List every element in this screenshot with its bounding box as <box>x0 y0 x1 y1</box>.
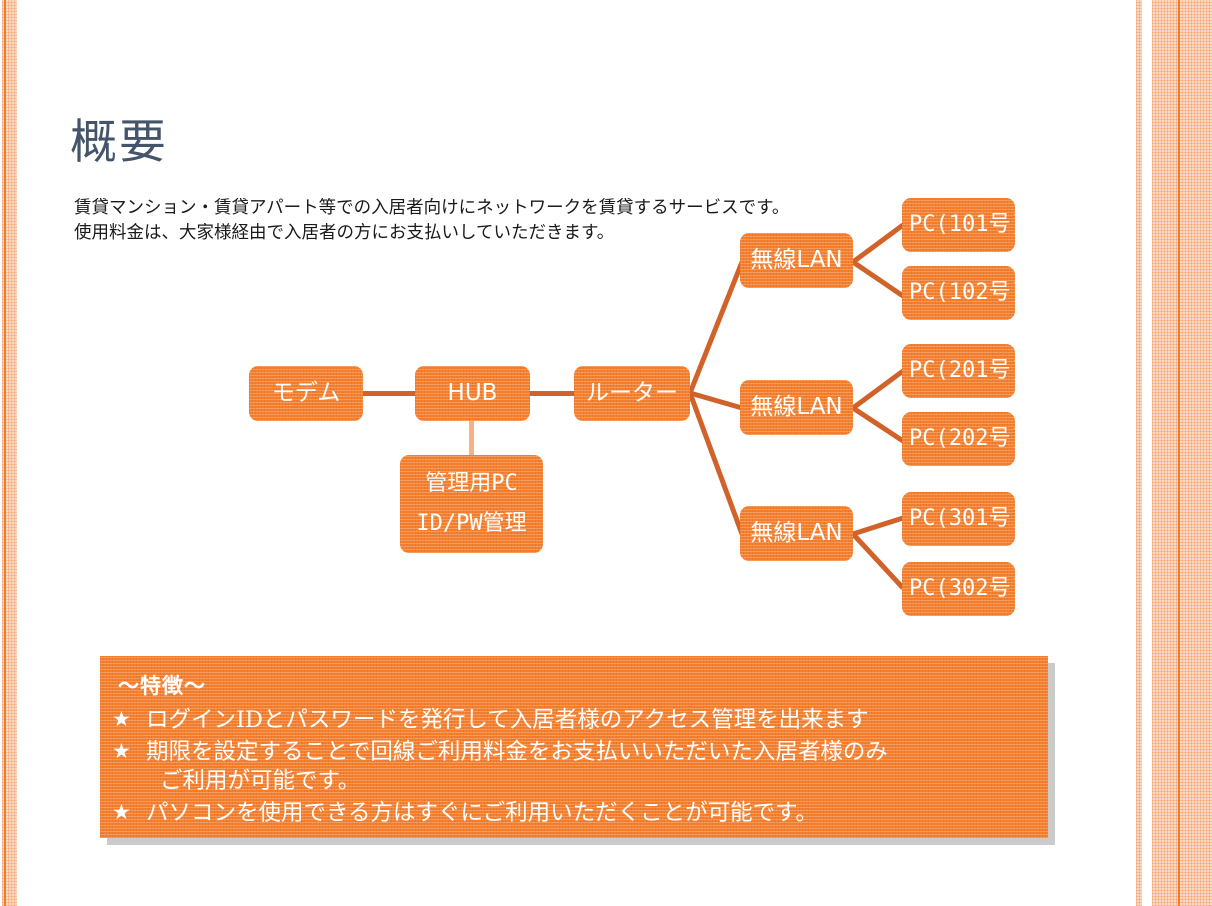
features-panel: 〜特徴〜 ★ ログインIDとパスワードを発行して入居者様のアクセス管理を出来ます… <box>100 656 1048 838</box>
node-pc-102[interactable]: PC(102号) <box>902 266 1015 320</box>
node-wireless-lan-2[interactable]: 無線LAN <box>740 380 853 435</box>
right-border-thin-strip <box>1136 0 1142 906</box>
pc-201-label: PC(201号) <box>909 358 1024 384</box>
node-pc-101[interactable]: PC(101号) <box>902 198 1015 252</box>
wireless-lan-2-label: 無線LAN <box>750 394 842 421</box>
link-modem-hub <box>363 391 417 396</box>
node-modem[interactable]: モデム <box>249 366 363 421</box>
management-pc-line-1: 管理用PC <box>425 471 518 497</box>
feature-text-continued: ご利用が可能です。 <box>146 767 1048 797</box>
node-pc-202[interactable]: PC(202号) <box>902 412 1015 466</box>
node-router-label: ルーター <box>586 380 678 407</box>
intro-line-2: 使用料金は、大家様経由で入居者の方にお支払いしていただきます。 <box>74 221 789 246</box>
node-wireless-lan-1[interactable]: 無線LAN <box>740 233 853 288</box>
feature-item: ★ パソコンを使用できる方はすぐにご利用いただくことが可能です。 <box>112 799 1048 829</box>
feature-item: ★ 期限を設定することで回線ご利用料金をお支払いいただいた入居者様のみ ご利用が… <box>112 738 1048 797</box>
feature-text: ログインIDとパスワードを発行して入居者様のアクセス管理を出来ます <box>146 706 1048 736</box>
pc-101-label: PC(101号) <box>909 212 1024 238</box>
star-icon: ★ <box>112 738 146 766</box>
pc-302-label: PC(302号) <box>909 576 1024 602</box>
pc-202-label: PC(202号) <box>909 426 1024 452</box>
wireless-lan-3-label: 無線LAN <box>750 520 842 547</box>
feature-text: パソコンを使用できる方はすぐにご利用いただくことが可能です。 <box>146 799 1048 829</box>
node-hub[interactable]: HUB <box>415 366 530 421</box>
left-border-accent-line <box>4 0 6 906</box>
features-heading: 〜特徴〜 <box>118 670 1048 700</box>
node-hub-label: HUB <box>448 380 498 407</box>
node-pc-201[interactable]: PC(201号) <box>902 344 1015 398</box>
right-border-wide-strip <box>1152 0 1212 906</box>
right-border-accent-line <box>1178 0 1180 906</box>
node-modem-label: モデム <box>272 380 341 407</box>
link-hub-router <box>530 391 574 396</box>
page-title: 概要 <box>70 118 168 167</box>
pc-102-label: PC(102号) <box>909 280 1024 306</box>
node-management-pc[interactable]: 管理用PC ID/PW管理 <box>400 455 543 553</box>
link-hub-management <box>469 421 474 457</box>
node-pc-301[interactable]: PC(301号) <box>902 492 1015 546</box>
pc-301-label: PC(301号) <box>909 506 1024 532</box>
node-router[interactable]: ルーター <box>574 366 690 421</box>
node-wireless-lan-3[interactable]: 無線LAN <box>740 506 853 561</box>
feature-item: ★ ログインIDとパスワードを発行して入居者様のアクセス管理を出来ます <box>112 706 1048 736</box>
node-pc-302[interactable]: PC(302号) <box>902 562 1015 616</box>
management-pc-line-2: ID/PW管理 <box>416 511 526 537</box>
wireless-lan-1-label: 無線LAN <box>750 247 842 274</box>
star-icon: ★ <box>112 799 146 827</box>
intro-paragraph: 賃貸マンション・賃貸アパート等での入居者向けにネットワークを賃貸するサービスです… <box>74 196 789 247</box>
feature-text: 期限を設定することで回線ご利用料金をお支払いいただいた入居者様のみ ご利用が可能… <box>146 738 1048 797</box>
star-icon: ★ <box>112 706 146 734</box>
feature-text-main: 期限を設定することで回線ご利用料金をお支払いいただいた入居者様のみ <box>146 739 888 765</box>
intro-line-1: 賃貸マンション・賃貸アパート等での入居者向けにネットワークを賃貸するサービスです… <box>74 196 789 221</box>
